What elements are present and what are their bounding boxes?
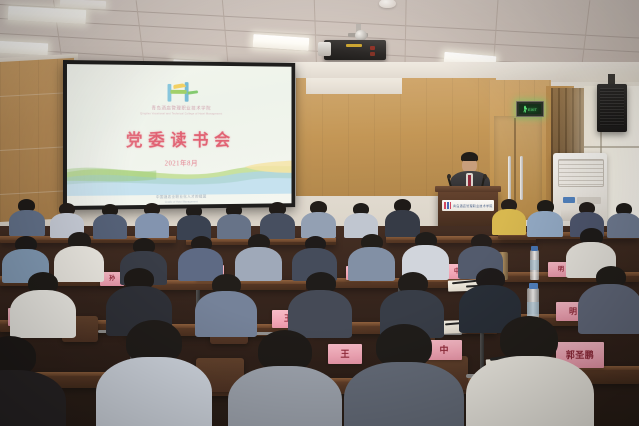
exit-sign-label: EXIT: [528, 107, 537, 112]
speaker-grill: [600, 88, 624, 126]
projector-lens: [318, 42, 331, 56]
placard-name: 明: [558, 267, 564, 273]
screen-org-name-en: Qingdao Vocational and Technical College…: [140, 112, 222, 115]
projection-screen: 青岛酒店管理职业技术学院 Qingdao Vocational and Tech…: [63, 60, 295, 210]
water-bottle: [530, 250, 539, 280]
smoke-detector-icon: [379, 0, 396, 8]
screen-main-title: 党委读书会: [67, 126, 292, 151]
screen-org-name-cn: 青岛酒店管理职业技术学院: [140, 105, 222, 111]
presenter-hair-front: [461, 155, 478, 161]
screen-wave-graphic: [67, 149, 292, 196]
microphone-head: [483, 174, 487, 179]
podium-logo-icon: [444, 202, 451, 209]
name-placard: 王: [328, 344, 362, 364]
placard-name: 孙: [109, 276, 115, 282]
placard-name: 郭圣鹏: [566, 351, 595, 360]
ac-brand-logo: [563, 197, 575, 203]
exit-sign-inner: EXIT: [519, 104, 541, 114]
conference-room-photo: EXIT 青岛酒店管理职业技术学院 Qin: [0, 0, 639, 426]
projection-screen-content: 青岛酒店管理职业技术学院 Qingdao Vocational and Tech…: [67, 64, 292, 206]
door-handle[interactable]: [520, 156, 523, 200]
placard-name: 明: [569, 308, 577, 316]
screen-logo: 青岛酒店管理职业技术学院 Qingdao Vocational and Tech…: [140, 82, 222, 115]
podium: 青岛酒店管理职业技术学院: [438, 190, 498, 230]
ceiling-panel-light: [0, 41, 48, 56]
screen-footer-en: Cradle of Hotel Management: [67, 200, 292, 205]
placard-name: 王: [340, 350, 349, 359]
running-man-icon: [523, 106, 527, 113]
ac-vent: [558, 159, 604, 187]
microphone-head: [447, 174, 451, 179]
wall-mounted-speaker: [597, 84, 627, 132]
podium-top: [435, 186, 501, 192]
podium-nameplate: 青岛酒店管理职业技术学院: [442, 200, 494, 211]
door-handle[interactable]: [508, 156, 511, 200]
placard-name: 中: [439, 346, 448, 355]
wall-white-panel: [306, 78, 402, 94]
letter-h-logo-icon: [164, 82, 198, 103]
podium-plate-text: 青岛酒店管理职业技术学院: [453, 204, 493, 208]
exit-sign: EXIT: [516, 101, 544, 117]
